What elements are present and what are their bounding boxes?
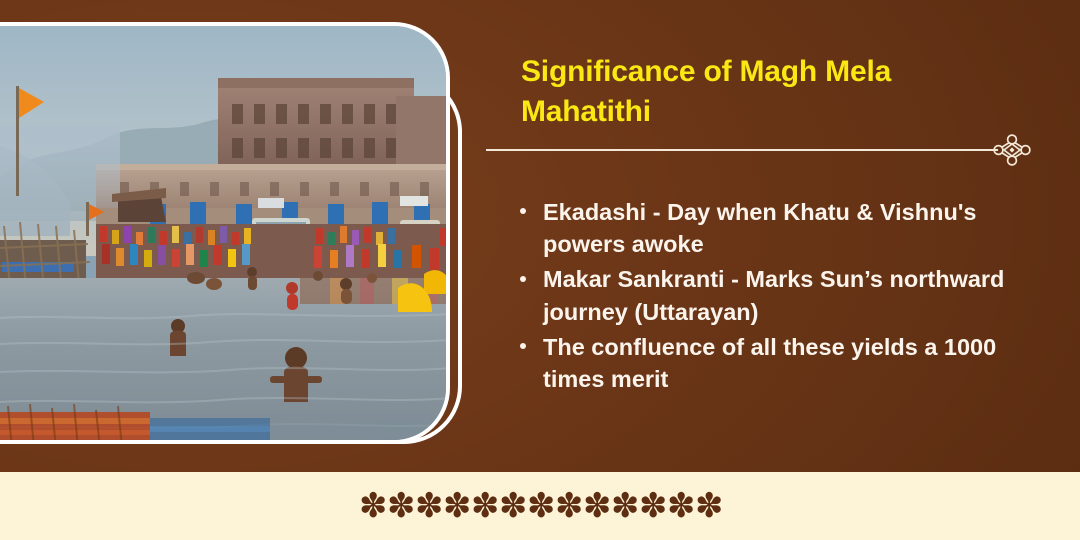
- photo-frame: [0, 22, 450, 444]
- divider: [486, 133, 1042, 167]
- divider-line: [486, 149, 998, 151]
- flower-icon: ✽: [611, 489, 637, 523]
- knot-center-diamond: [1009, 147, 1014, 152]
- bottom-decorative-band: ✽✽✽✽✽✽✽✽✽✽✽✽✽: [0, 472, 1080, 540]
- flower-icon: ✽: [639, 489, 665, 523]
- flower-icon: ✽: [583, 489, 609, 523]
- image-panel: [0, 22, 470, 444]
- flower-icon: ✽: [527, 489, 553, 523]
- four-lobed-knot-icon: [990, 133, 1034, 167]
- flower-icon: ✽: [415, 489, 441, 523]
- bullet-list: Ekadashi - Day when Khatu & Vishnu's pow…: [512, 196, 1052, 398]
- list-item: The confluence of all these yields a 100…: [512, 331, 1052, 395]
- flower-icon: ✽: [359, 489, 385, 523]
- flower-divider-row: ✽✽✽✽✽✽✽✽✽✽✽✽✽: [0, 472, 1080, 540]
- list-item-text: Makar Sankranti - Marks Sun’s northward …: [543, 266, 1004, 324]
- list-item: Makar Sankranti - Marks Sun’s northward …: [512, 263, 1052, 327]
- flower-icon: ✽: [499, 489, 525, 523]
- list-item-text: Ekadashi - Day when Khatu & Vishnu's pow…: [543, 199, 976, 257]
- bullet-dot-icon: [520, 343, 526, 349]
- bullet-dot-icon: [520, 276, 526, 282]
- photo-artwork: [0, 26, 446, 440]
- flower-icon: ✽: [667, 489, 693, 523]
- flower-icon: ✽: [555, 489, 581, 523]
- flower-icon: ✽: [387, 489, 413, 523]
- list-item: Ekadashi - Day when Khatu & Vishnu's pow…: [512, 196, 1052, 260]
- knot-ornament-svg: [990, 133, 1034, 167]
- list-item-text: The confluence of all these yields a 100…: [543, 334, 996, 392]
- page-title: Significance of Magh Mela Mahatithi: [521, 52, 991, 132]
- magh-mela-photo: [0, 26, 446, 440]
- bullet-dot-icon: [520, 208, 526, 214]
- slide-canvas: Significance of Magh Mela Mahatithi: [0, 0, 1080, 540]
- flower-icon: ✽: [443, 489, 469, 523]
- flower-icon: ✽: [695, 489, 721, 523]
- flower-icon: ✽: [471, 489, 497, 523]
